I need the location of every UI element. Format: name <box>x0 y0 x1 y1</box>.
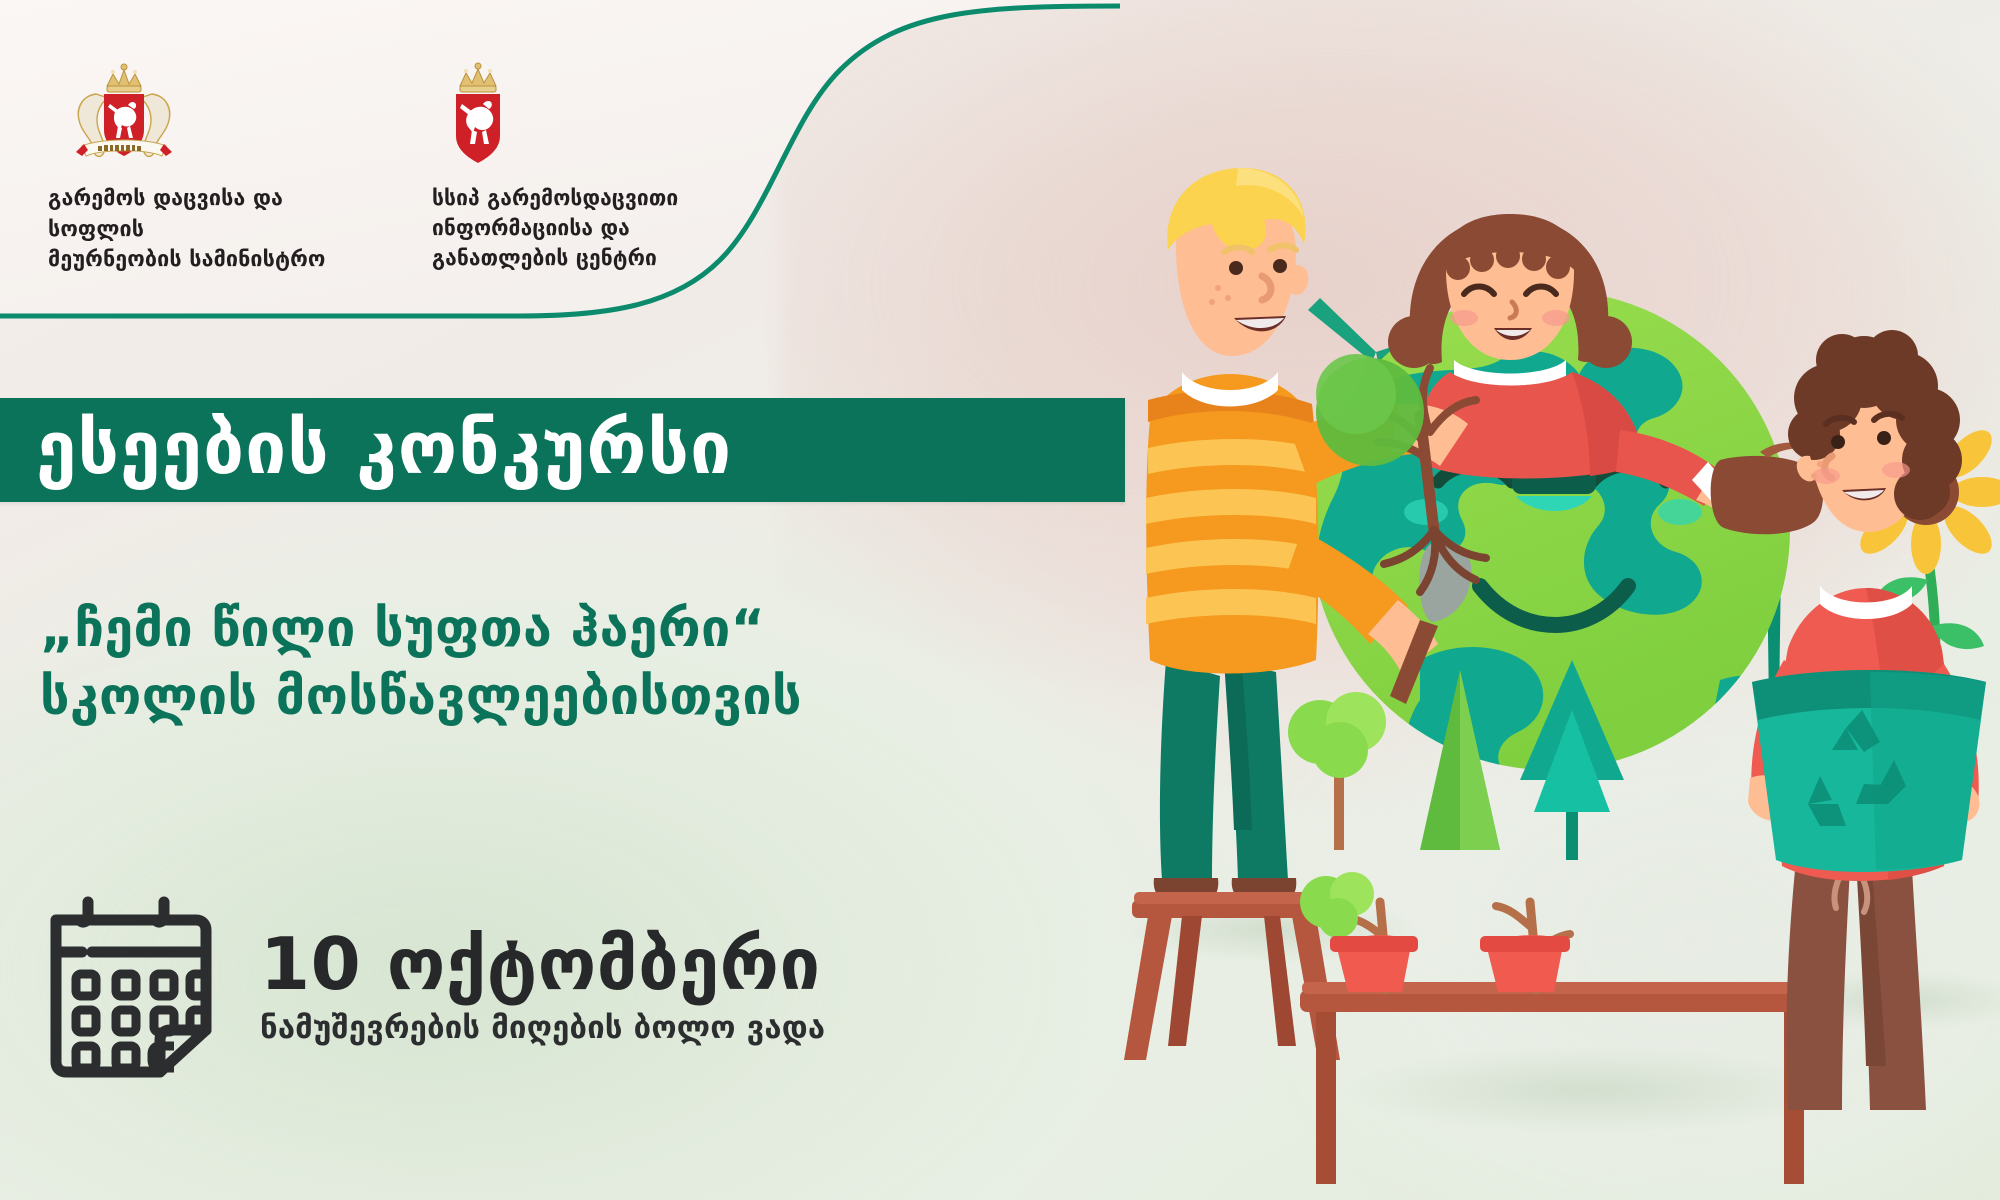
potted-sapling-right <box>1480 902 1570 992</box>
logo-center: სსიპ გარემოსდაცვითი ინფორმაციისა და განა… <box>424 60 724 273</box>
logo-ministry-line-1: გარემოს დაცვისა და სოფლის <box>48 184 368 245</box>
logo-row: გარემოს დაცვისა და სოფლის მეურნეობის სამ… <box>0 60 724 276</box>
deadline-date: 10 ოქტომბერი <box>260 928 825 1001</box>
foreground-trees <box>1288 660 1624 860</box>
logo-center-line-3: განათლების ცენტრი <box>432 244 657 274</box>
georgia-coat-of-arms-full-icon <box>66 60 182 170</box>
subtitle-line-2: სკოლის მოსწავლეებისთვის <box>40 664 1180 732</box>
georgia-shield-crest-icon <box>442 60 514 170</box>
deadline-caption: ნამუშევრების მიღების ბოლო ვადა <box>260 1011 825 1047</box>
calendar-icon <box>30 880 230 1095</box>
logo-center-line-1: სსიპ გარემოსდაცვითი <box>432 184 678 214</box>
logo-ministry: გარემოს დაცვისა და სოფლის მეურნეობის სამ… <box>38 60 368 276</box>
subtitle-line-1: „ჩემი წილი სუფთა ჰაერი“ <box>40 596 1180 664</box>
shadow-table <box>1340 1046 1840 1134</box>
deadline-block: 10 ოქტომბერი ნამუშევრების მიღების ბოლო ვ… <box>30 880 825 1095</box>
hair-bun-right <box>1580 316 1632 368</box>
recycle-bin-icon <box>1752 670 1986 872</box>
hair-bun-left <box>1388 316 1440 368</box>
subtitle: „ჩემი წილი სუფთა ჰაერი“ სკოლის მოსწავლეე… <box>40 596 1180 731</box>
children-caring-for-earth-illustration <box>1120 60 2000 1200</box>
title-banner: ესეების კონკურსი <box>0 398 1125 502</box>
crown <box>107 64 141 92</box>
poster-root: გარემოს დაცვისა და სოფლის მეურნეობის სამ… <box>0 0 2000 1200</box>
logo-ministry-line-2: მეურნეობის სამინისტრო <box>48 245 326 276</box>
page-title: ესეების კონკურსი <box>0 412 732 485</box>
logo-center-line-2: ინფორმაციისა და <box>432 214 630 244</box>
